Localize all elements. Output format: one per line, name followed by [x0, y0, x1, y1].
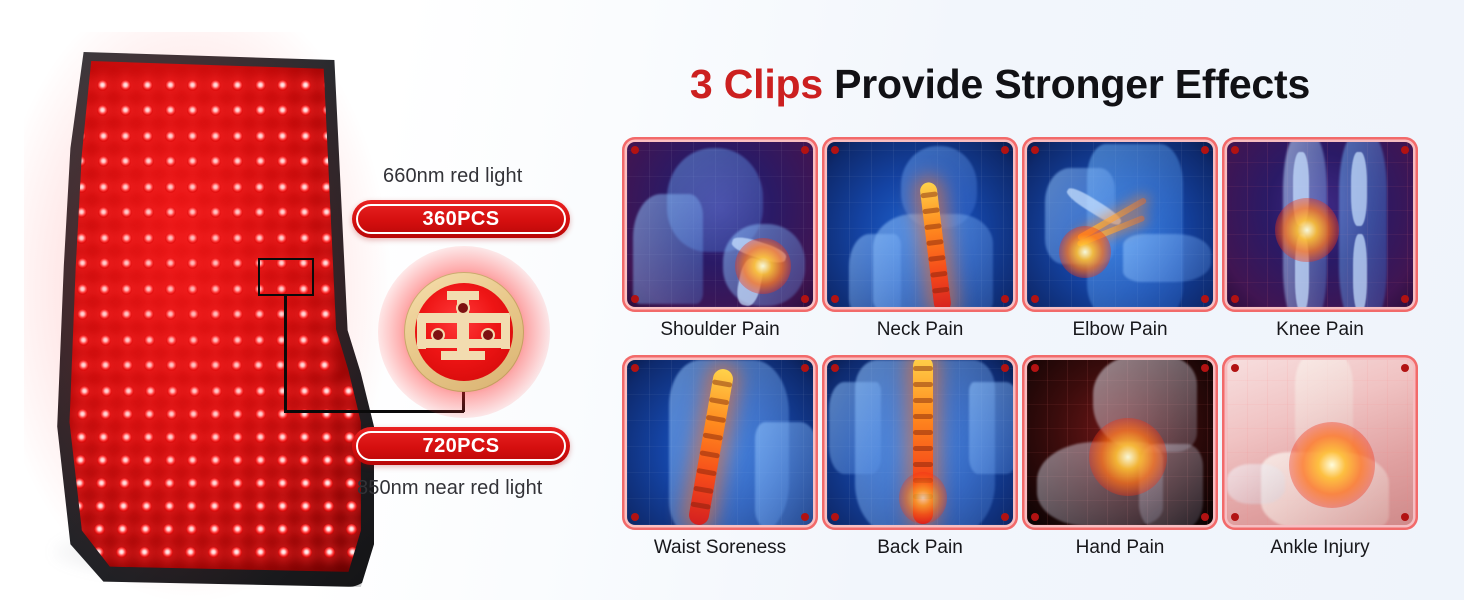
frame-corner-dot-icon [801, 513, 809, 521]
red-light-therapy-pad [44, 52, 374, 587]
frame-corner-dot-icon [631, 364, 639, 372]
frame-corner-dot-icon [1001, 295, 1009, 303]
frame-corner-dot-icon [801, 295, 809, 303]
frame-corner-dot-icon [1231, 364, 1239, 372]
pain-card-frame [822, 137, 1018, 312]
frame-corner-dot-icon [1231, 513, 1239, 521]
frame-corner-dot-icon [1031, 146, 1039, 154]
ankle-injury-image [1227, 360, 1413, 525]
pain-card-label: Elbow Pain [1022, 319, 1218, 341]
pad-led-surface [54, 61, 364, 577]
led-count-360-label: 360PCS [423, 208, 500, 231]
frame-corner-dot-icon [1001, 513, 1009, 521]
frame-corner-dot-icon [801, 146, 809, 154]
shoulder-pain-image [627, 142, 813, 307]
pain-card[interactable]: Elbow Pain [1022, 137, 1218, 354]
page-title: 3 Clips Provide Stronger Effects [600, 61, 1400, 108]
frame-corner-dot-icon [1001, 364, 1009, 372]
pain-card-frame [622, 137, 818, 312]
frame-corner-dot-icon [1001, 146, 1009, 154]
frame-corner-dot-icon [831, 146, 839, 154]
neck-pain-image [827, 142, 1013, 307]
frame-corner-dot-icon [1031, 295, 1039, 303]
waist-soreness-image [627, 360, 813, 525]
chip-trace [501, 313, 510, 349]
pain-card-label: Hand Pain [1022, 537, 1218, 559]
pain-card[interactable]: Hand Pain [1022, 355, 1218, 572]
pain-card-label: Waist Soreness [622, 537, 818, 559]
chip-contact-dot [456, 301, 470, 315]
pain-card-label: Ankle Injury [1222, 537, 1418, 559]
chip-trace [441, 351, 485, 360]
pain-card-frame [1022, 137, 1218, 312]
wavelength-850-caption: 850nm near red light [357, 477, 542, 500]
led-count-720-label: 720PCS [423, 435, 500, 458]
frame-corner-dot-icon [831, 295, 839, 303]
pain-card-label: Back Pain [822, 537, 1018, 559]
led-chip-ring [404, 272, 524, 392]
frame-corner-dot-icon [801, 364, 809, 372]
headline-highlight: 3 Clips [690, 61, 823, 107]
pain-card-frame [622, 355, 818, 530]
frame-corner-dot-icon [1231, 295, 1239, 303]
chip-contact-dot [481, 328, 495, 342]
callout-line-segment [284, 296, 287, 412]
elbow-pain-image [1027, 142, 1213, 307]
frame-corner-dot-icon [1401, 513, 1409, 521]
frame-corner-dot-icon [1201, 513, 1209, 521]
pain-card-frame [1222, 137, 1418, 312]
headline-rest: Provide Stronger Effects [823, 61, 1310, 107]
product-visual-panel: 660nm red light 360PCS 720PCS 850nm near… [0, 0, 600, 600]
frame-corner-dot-icon [831, 513, 839, 521]
pain-card-frame [822, 355, 1018, 530]
frame-corner-dot-icon [1031, 513, 1039, 521]
chip-contact-dot [431, 328, 445, 342]
chip-trace [417, 313, 426, 349]
frame-corner-dot-icon [1201, 295, 1209, 303]
frame-corner-dot-icon [1401, 295, 1409, 303]
led-chip-face [415, 283, 513, 381]
pain-card[interactable]: Back Pain [822, 355, 1018, 572]
pain-area-grid: Shoulder Pain Neck Pain [622, 137, 1418, 572]
back-pain-image [827, 360, 1013, 525]
pain-card-frame [1022, 355, 1218, 530]
led-count-360-badge: 360PCS [352, 200, 570, 238]
pain-card[interactable]: Neck Pain [822, 137, 1018, 354]
hand-pain-image [1027, 360, 1213, 525]
frame-corner-dot-icon [631, 295, 639, 303]
pain-card-label: Neck Pain [822, 319, 1018, 341]
frame-corner-dot-icon [631, 513, 639, 521]
pain-card[interactable]: Waist Soreness [622, 355, 818, 572]
led-selection-box [258, 258, 314, 296]
pain-card[interactable]: Shoulder Pain [622, 137, 818, 354]
pain-card[interactable]: Ankle Injury [1222, 355, 1418, 572]
pain-card-frame [1222, 355, 1418, 530]
pain-card-label: Knee Pain [1222, 319, 1418, 341]
led-array [54, 61, 364, 577]
frame-corner-dot-icon [1401, 146, 1409, 154]
frame-corner-dot-icon [1031, 364, 1039, 372]
product-infographic: 660nm red light 360PCS 720PCS 850nm near… [0, 0, 1464, 600]
knee-pain-image [1227, 142, 1413, 307]
wavelength-660-caption: 660nm red light [383, 165, 522, 188]
benefits-panel: 3 Clips Provide Stronger Effects Shoulde… [600, 0, 1464, 600]
led-count-720-badge: 720PCS [352, 427, 570, 465]
led-chip-magnifier [404, 272, 524, 392]
frame-corner-dot-icon [1201, 146, 1209, 154]
frame-corner-dot-icon [1201, 364, 1209, 372]
pain-card-label: Shoulder Pain [622, 319, 818, 341]
frame-corner-dot-icon [831, 364, 839, 372]
pain-card[interactable]: Knee Pain [1222, 137, 1418, 354]
frame-corner-dot-icon [1231, 146, 1239, 154]
frame-corner-dot-icon [1401, 364, 1409, 372]
frame-corner-dot-icon [631, 146, 639, 154]
pad-outer-body [44, 52, 374, 587]
